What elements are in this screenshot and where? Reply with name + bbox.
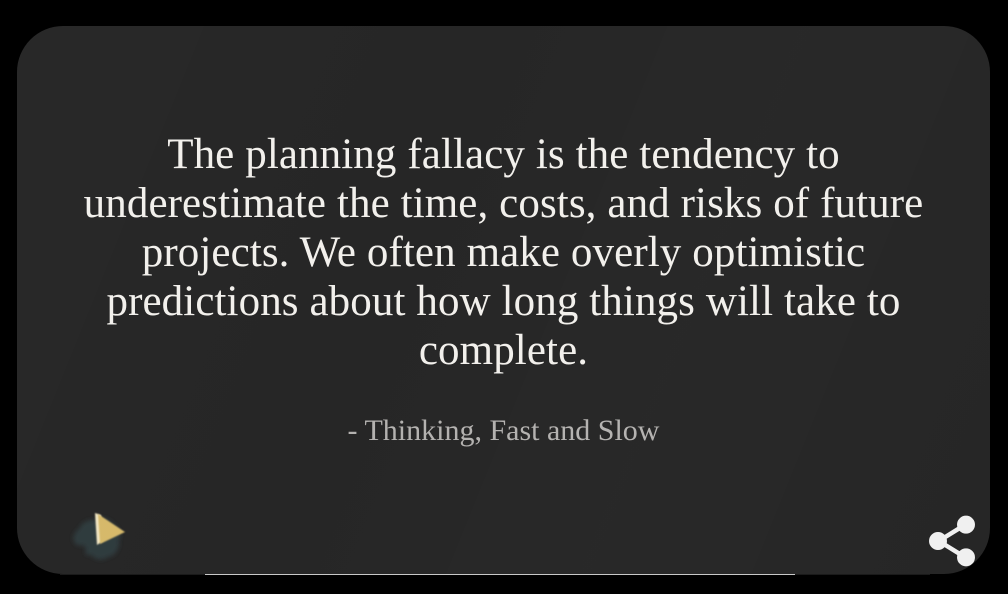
quote-attribution: - Thinking, Fast and Slow (77, 375, 930, 449)
quote-card: The planning fallacy is the tendency to … (17, 26, 990, 574)
share-button[interactable] (919, 508, 985, 574)
save-button[interactable] (57, 499, 141, 574)
quote-text: The planning fallacy is the tendency to … (77, 130, 930, 375)
share-icon (924, 513, 980, 569)
quote-card-screen: The planning fallacy is the tendency to … (0, 0, 1008, 594)
quote-content: The planning fallacy is the tendency to … (77, 130, 930, 449)
card-bottom-edge-artifact (205, 574, 795, 575)
